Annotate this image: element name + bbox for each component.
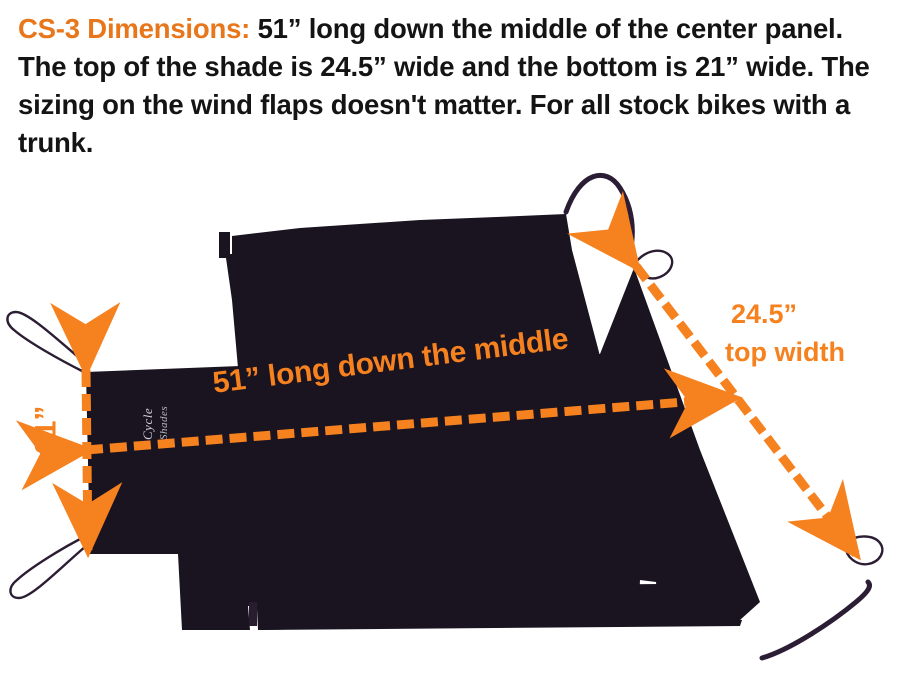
top-width-caption: top width bbox=[725, 338, 845, 366]
top-width-annotation: 24.5” top width bbox=[731, 300, 845, 367]
svg-text:Cycle: Cycle bbox=[140, 408, 155, 440]
loop-bottom-left bbox=[10, 536, 86, 598]
loop-top-left bbox=[7, 312, 84, 372]
tab-top-left bbox=[219, 232, 230, 258]
svg-text:Shades: Shades bbox=[158, 406, 170, 440]
top-width-value: 24.5” bbox=[731, 299, 797, 329]
strap-upper-right bbox=[566, 175, 632, 254]
strap-lower-right bbox=[762, 582, 870, 658]
tab-bottom-left bbox=[249, 602, 257, 626]
product-dimension-figure: CS-3 Dimensions: 51” long down the middl… bbox=[0, 0, 900, 692]
description-text: CS-3 Dimensions: 51” long down the middl… bbox=[18, 10, 884, 162]
page-title: CS-3 Dimensions: bbox=[18, 13, 250, 44]
shade-diagram: Cycle Shades bbox=[0, 150, 900, 692]
dimension-line-bottom-width bbox=[86, 370, 88, 550]
bottom-width-annotation-label: 21” bbox=[30, 406, 62, 454]
